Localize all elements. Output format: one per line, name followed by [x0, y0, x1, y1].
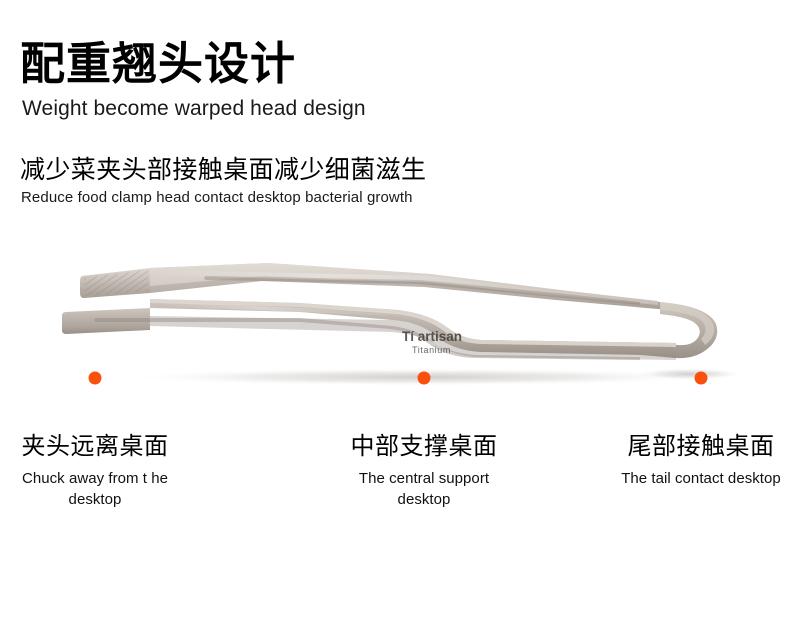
product-feature-page: 配重翘头设计 Weight become warped head design … [0, 0, 790, 618]
subheader-block: 减少菜夹头部接触桌面减少细菌滋生 Reduce food clamp head … [20, 155, 760, 207]
product-shadow-tail [635, 368, 745, 380]
product-shadow [120, 368, 720, 386]
callout-2-title-en: The central support desktop [342, 468, 507, 510]
callout-3: 尾部接触桌面 The tail contact desktop [596, 432, 790, 489]
subtitle-cn: 减少菜夹头部接触桌面减少细菌滋生 [20, 155, 760, 186]
callout-1: 夹头远离桌面 Chuck away from t he desktop [0, 432, 200, 510]
page-title-en: Weight become warped head design [22, 96, 760, 122]
callout-1-title-en: Chuck away from t he desktop [13, 468, 178, 510]
tongs-lower-arm [62, 299, 676, 360]
callout-captions: 夹头远离桌面 Chuck away from t he desktop 中部支撑… [0, 432, 790, 552]
product-image: Tí artisan Titanium [0, 240, 790, 390]
callout-2: 中部支撑桌面 The central support desktop [319, 432, 529, 510]
subtitle-en: Reduce food clamp head contact desktop b… [21, 188, 760, 207]
callout-1-title-cn: 夹头远离桌面 [0, 432, 200, 462]
callout-3-title-cn: 尾部接触桌面 [596, 432, 790, 462]
callout-2-title-cn: 中部支撑桌面 [319, 432, 529, 462]
callout-3-title-en: The tail contact desktop [619, 468, 784, 489]
header-block: 配重翘头设计 Weight become warped head design [20, 38, 760, 122]
engraving-brand: Tí artisan [402, 329, 462, 344]
page-title-cn: 配重翘头设计 [20, 38, 760, 90]
engraving-material: Titanium [412, 345, 451, 355]
